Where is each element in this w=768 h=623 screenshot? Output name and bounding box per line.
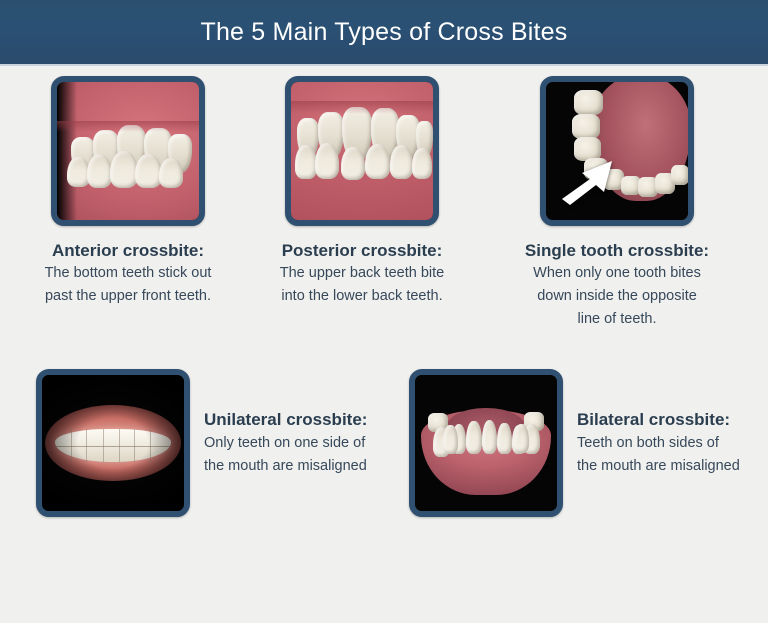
page-header: The 5 Main Types of Cross Bites [0, 0, 768, 66]
card-single-tooth-crossbite: Single tooth crossbite: When only one to… [486, 76, 748, 330]
caption-line-2: past the upper front teeth. [18, 286, 238, 307]
anterior-crossbite-photo [51, 76, 205, 226]
page-title: The 5 Main Types of Cross Bites [200, 20, 567, 45]
caption-line-1: Only teeth on one side of [204, 433, 367, 454]
card-anterior-crossbite: Anterior crossbite: The bottom teeth sti… [18, 76, 238, 307]
posterior-crossbite-photo [285, 76, 439, 226]
caption-title: Single tooth crossbite: [486, 240, 748, 261]
caption-line-2: down inside the opposite [486, 286, 748, 307]
single-tooth-crossbite-photo [540, 76, 694, 226]
caption-block: Unilateral crossbite: Only teeth on one … [204, 409, 367, 476]
caption-line-2: the mouth are misaligned [577, 456, 740, 477]
caption-line-1: The upper back teeth bite [252, 263, 472, 284]
caption-block: Bilateral crossbite: Teeth on both sides… [577, 409, 740, 476]
caption-title: Posterior crossbite: [252, 240, 472, 261]
caption-line-1: The bottom teeth stick out [18, 263, 238, 284]
caption-line-1: When only one tooth bites [486, 263, 748, 284]
card-bilateral-crossbite: Bilateral crossbite: Teeth on both sides… [409, 369, 740, 517]
card-posterior-crossbite: Posterior crossbite: The upper back teet… [252, 76, 472, 307]
caption-title: Bilateral crossbite: [577, 409, 740, 430]
bilateral-crossbite-photo [409, 369, 563, 517]
unilateral-crossbite-photo [36, 369, 190, 517]
caption-title: Anterior crossbite: [18, 240, 238, 261]
caption-line-1: Teeth on both sides of [577, 433, 740, 454]
infographic-body: Anterior crossbite: The bottom teeth sti… [0, 66, 768, 623]
card-unilateral-crossbite: Unilateral crossbite: Only teeth on one … [36, 369, 367, 517]
caption-line-2: into the lower back teeth. [252, 286, 472, 307]
caption-title: Unilateral crossbite: [204, 409, 367, 430]
caption-line-3: line of teeth. [486, 309, 748, 330]
caption-line-2: the mouth are misaligned [204, 456, 367, 477]
